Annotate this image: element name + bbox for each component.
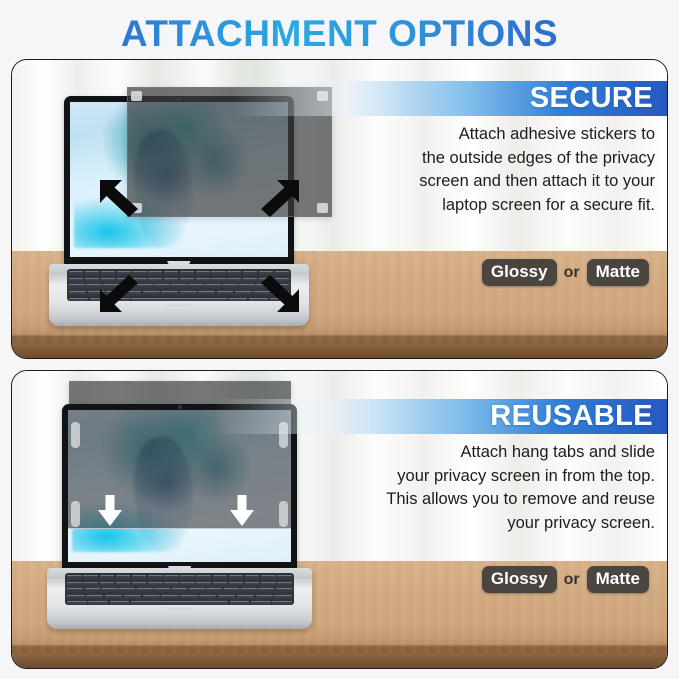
body-line: This allows you to remove and reuse — [386, 488, 655, 512]
infographic-page: ATTACHMENT OPTIONS — [0, 0, 679, 679]
finish-chip-matte[interactable]: Matte — [587, 259, 649, 286]
trackpad-lip — [166, 605, 193, 609]
body-text-secure: Attach adhesive stickers to the outside … — [419, 123, 655, 217]
keyboard-row — [67, 588, 291, 593]
finish-separator: or — [564, 263, 580, 283]
body-line: your privacy screen. — [386, 512, 655, 536]
arrow-down-left-icon — [96, 274, 142, 316]
hang-tab — [279, 501, 288, 527]
arrow-down-icon — [229, 495, 255, 527]
body-line: laptop screen for a secure fit. — [419, 194, 655, 218]
lid-notch — [167, 261, 190, 265]
finish-separator: or — [564, 570, 580, 590]
banner-reusable: REUSABLE — [214, 399, 667, 434]
banner-label: SECURE — [530, 82, 653, 115]
keyboard-row — [67, 601, 291, 604]
lid-notch — [168, 566, 192, 570]
hang-tab — [71, 422, 80, 448]
desk-front-edge — [12, 654, 667, 668]
finish-chip-glossy[interactable]: Glossy — [482, 259, 557, 286]
panel-card-reusable: REUSABLE Attach hang tabs and slide your… — [11, 370, 668, 669]
keyboard-row — [67, 575, 291, 580]
panel-card-secure: SECURE Attach adhesive stickers to the o… — [11, 59, 668, 359]
body-line: Attach adhesive stickers to — [419, 123, 655, 147]
body-line: Attach hang tabs and slide — [386, 441, 655, 465]
keyboard-row — [67, 582, 291, 587]
arrow-up-left-icon — [96, 176, 142, 218]
finish-chip-matte[interactable]: Matte — [587, 566, 649, 593]
keyboard — [65, 573, 293, 605]
laptop-reusable — [62, 404, 297, 629]
trackpad-lip — [166, 302, 192, 306]
adhesive-sticker-tab — [131, 91, 142, 101]
laptop-base — [47, 568, 313, 629]
desk-front-edge — [12, 344, 667, 358]
keyboard-row — [67, 595, 291, 600]
adhesive-sticker-tab — [317, 203, 328, 213]
arrow-down-icon — [97, 495, 123, 527]
arrow-down-right-icon — [257, 274, 303, 316]
body-line: screen and then attach it to your — [419, 170, 655, 194]
finish-options-reusable: Glossy or Matte — [482, 566, 649, 593]
webcam-dot — [178, 405, 182, 409]
page-title: ATTACHMENT OPTIONS — [0, 12, 679, 56]
hang-tab — [71, 501, 80, 527]
body-line: the outside edges of the privacy — [419, 147, 655, 171]
banner-label: REUSABLE — [490, 400, 653, 433]
body-text-reusable: Attach hang tabs and slide your privacy … — [386, 441, 655, 535]
body-line: your privacy screen in from the top. — [386, 465, 655, 489]
banner-secure: SECURE — [234, 81, 667, 116]
finish-chip-glossy[interactable]: Glossy — [482, 566, 557, 593]
arrow-up-right-icon — [257, 176, 303, 218]
finish-options-secure: Glossy or Matte — [482, 259, 649, 286]
